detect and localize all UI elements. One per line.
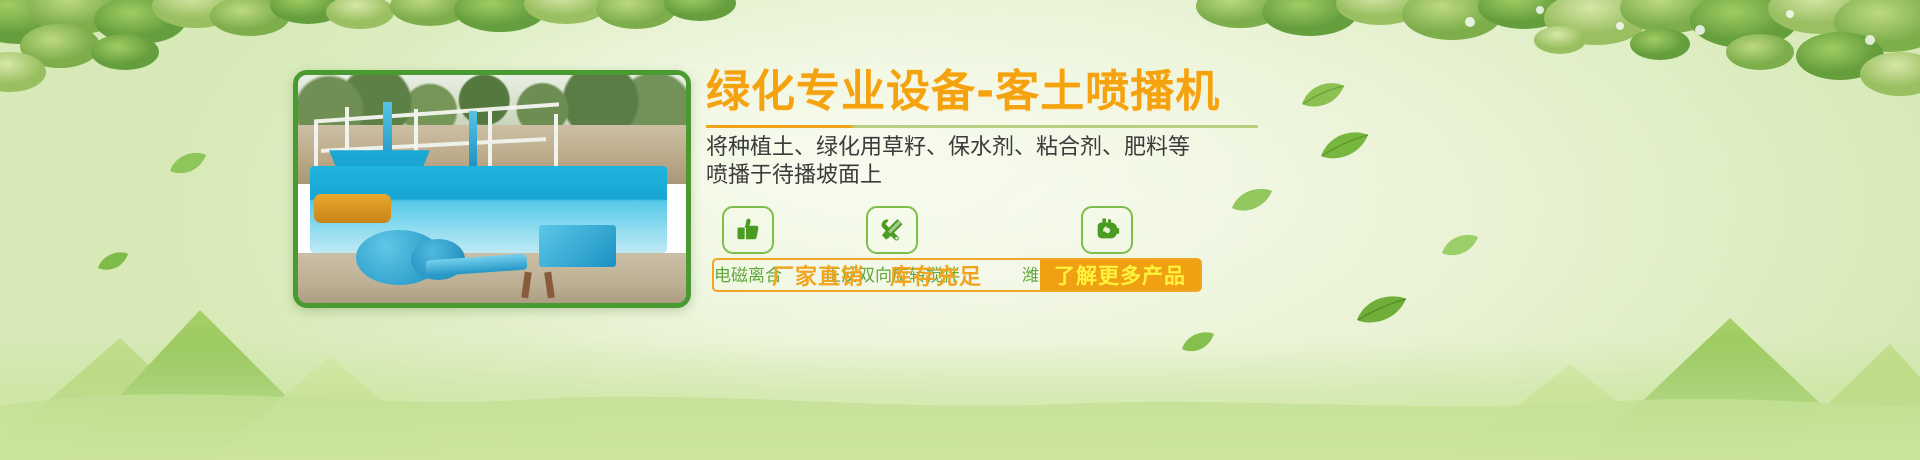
feature-icon-box — [866, 206, 918, 254]
learn-more-button[interactable]: 了解更多产品 — [1040, 260, 1200, 290]
floating-leaf-icon — [1180, 330, 1216, 354]
banner-content: 绿化专业设备-客土喷播机 将种植土、绿化用草籽、保水剂、粘合剂、肥料等 喷播于待… — [706, 68, 1326, 286]
floating-leaf-icon — [168, 150, 208, 176]
cta-tagline: 厂家直销 库存充足 — [714, 260, 1040, 290]
engine-power-icon — [1092, 216, 1122, 244]
feature-icon-box — [1081, 206, 1133, 254]
cta-bar: 厂家直销 库存充足 了解更多产品 — [712, 258, 1202, 292]
floating-leaf-icon — [1440, 232, 1480, 258]
subtitle-line-1: 将种植土、绿化用草籽、保水剂、粘合剂、肥料等 — [706, 134, 1326, 162]
product-photo — [298, 75, 686, 303]
cta-tag-factory-direct: 厂家直销 — [772, 259, 864, 291]
subtitle-line-2: 喷播于待播坡面上 — [706, 162, 1326, 190]
thumbs-up-icon — [733, 216, 763, 244]
product-photo-frame[interactable] — [293, 70, 691, 308]
cta-tag-stock: 库存充足 — [890, 259, 982, 291]
floating-leaf-icon — [96, 250, 130, 272]
floating-leaf-icon — [1354, 292, 1408, 326]
promo-banner: 绿化专业设备-客土喷播机 将种植土、绿化用草籽、保水剂、粘合剂、肥料等 喷播于待… — [0, 0, 1920, 460]
tools-wrench-screwdriver-icon — [877, 216, 907, 244]
title-divider — [706, 125, 1258, 128]
feature-icon-box — [722, 206, 774, 254]
grass-gradient-decoration — [0, 340, 1920, 460]
page-title: 绿化专业设备-客土喷播机 — [706, 68, 1326, 116]
